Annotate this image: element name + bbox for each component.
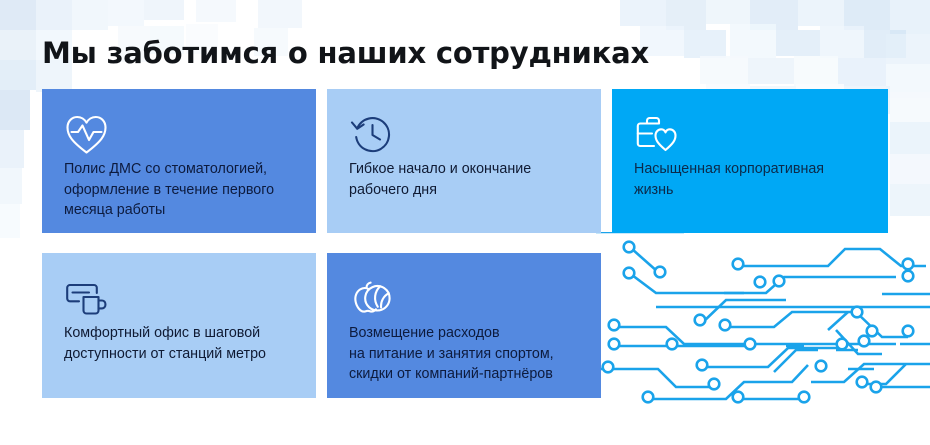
card-text: Насыщенная корпоративная жизнь — [634, 159, 874, 200]
mosaic-tile — [890, 0, 930, 34]
mosaic-tile — [700, 56, 748, 84]
mosaic-tile — [684, 30, 726, 58]
briefcase-heart-icon — [634, 113, 680, 155]
mosaic-tile — [0, 204, 20, 238]
card-text: Комфортный офис в шаговой доступности от… — [64, 323, 302, 364]
mosaic-tile — [776, 30, 820, 56]
mosaic-tile — [36, 0, 72, 30]
mosaic-tile — [108, 0, 144, 26]
mosaic-tile — [0, 30, 36, 60]
mosaic-tile — [890, 154, 930, 184]
mosaic-tile — [890, 122, 930, 154]
card-text: Возмещение расходов на питание и занятия… — [349, 323, 587, 385]
card-meal-sport-compensation[interactable]: Возмещение расходов на питание и занятия… — [327, 253, 601, 398]
clock-arrow-icon — [349, 113, 395, 155]
mosaic-tile — [730, 24, 776, 58]
card-flexible-hours[interactable]: Гибкое начало и окончание рабочего дня — [327, 89, 601, 233]
mosaic-tile — [748, 58, 794, 84]
mosaic-tile — [0, 90, 30, 130]
mosaic-tile — [798, 0, 844, 26]
mosaic-tile — [838, 58, 886, 86]
apple-ball-icon — [349, 277, 395, 319]
mosaic-tile — [886, 34, 930, 64]
card-corporate-life[interactable]: Насыщенная корпоративная жизнь — [612, 89, 888, 233]
mosaic-tile — [144, 0, 184, 20]
mosaic-tile — [890, 92, 930, 122]
circuit-board-pattern — [596, 232, 930, 445]
laptop-mug-icon — [64, 277, 110, 319]
mosaic-tile — [794, 56, 838, 86]
card-text: Полис ДМС со стоматологией, оформление в… — [64, 159, 302, 221]
mosaic-tile — [0, 168, 22, 204]
mosaic-tile — [258, 0, 302, 28]
mosaic-tile — [706, 0, 750, 24]
mosaic-tile — [72, 0, 108, 30]
mosaic-tile — [0, 0, 36, 30]
mosaic-tile — [820, 26, 864, 58]
card-office-location[interactable]: Комфортный офис в шаговой доступности от… — [42, 253, 316, 398]
slide-root: Мы заботимся о наших сотрудниках Полис Д… — [0, 0, 930, 445]
mosaic-tile — [890, 184, 930, 216]
mosaic-tile — [196, 0, 236, 22]
mosaic-tile — [0, 60, 36, 90]
card-medical-insurance[interactable]: Полис ДМС со стоматологией, оформление в… — [42, 89, 316, 233]
page-title: Мы заботимся о наших сотрудниках — [42, 36, 649, 70]
mosaic-tile — [620, 0, 666, 26]
heart-pulse-icon — [64, 113, 110, 155]
card-text: Гибкое начало и окончание рабочего дня — [349, 159, 587, 200]
mosaic-tile — [0, 130, 24, 168]
